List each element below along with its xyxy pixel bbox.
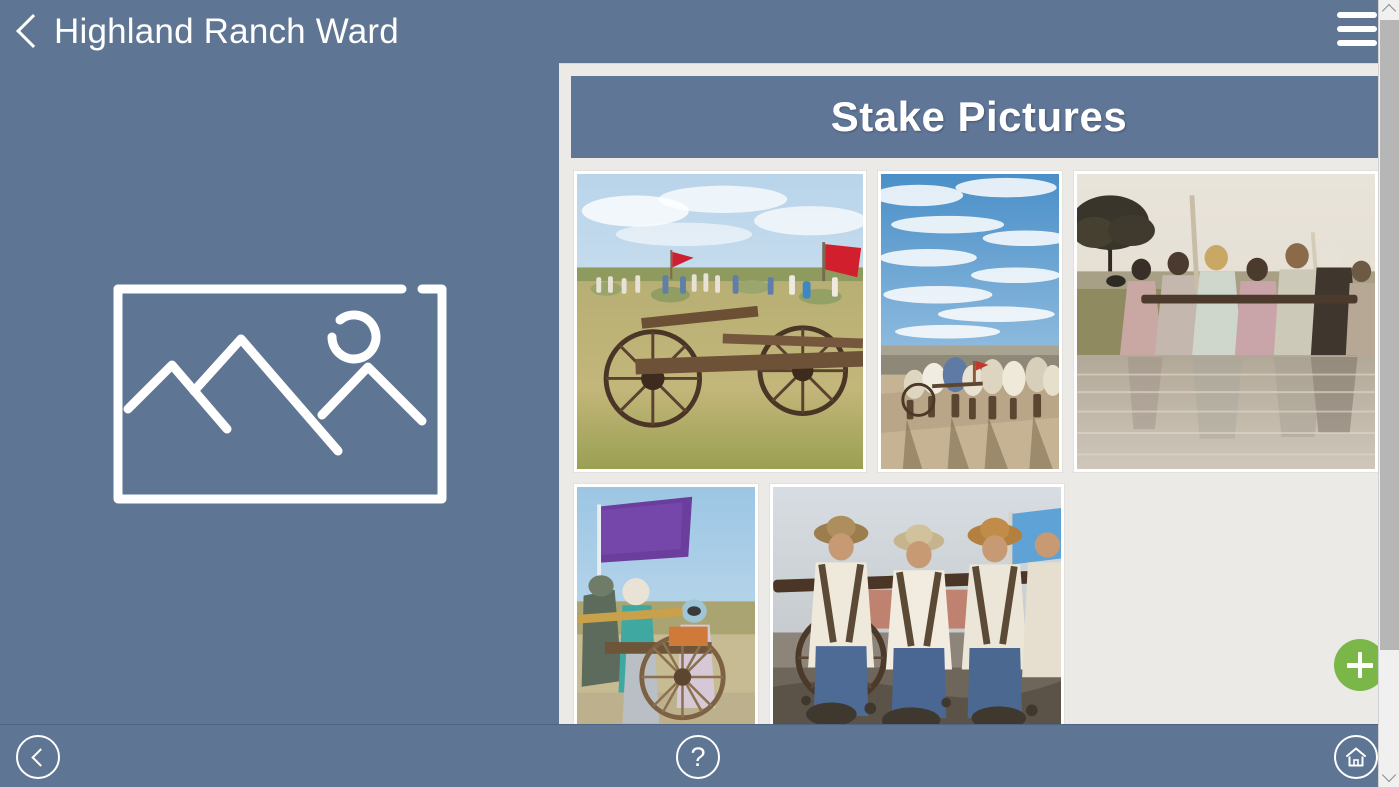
chevron-up-icon[interactable] <box>1379 0 1399 19</box>
help-label: ? <box>690 744 705 771</box>
hamburger-bar <box>1337 40 1377 46</box>
chevron-left-icon[interactable] <box>8 9 48 55</box>
photo-1-image <box>577 174 863 469</box>
home-circle-icon[interactable] <box>1334 735 1378 779</box>
chevron-left-glyph <box>31 748 49 766</box>
photo-3-image <box>1077 174 1375 469</box>
scrollbar-thumb[interactable] <box>1380 20 1399 650</box>
vertical-scrollbar[interactable] <box>1378 0 1399 787</box>
home-glyph <box>1344 745 1368 769</box>
hamburger-menu-icon[interactable] <box>1337 12 1377 46</box>
page-title: Highland Ranch Ward <box>54 0 399 63</box>
panel-header: Stake Pictures <box>571 76 1387 158</box>
chevron-left-circle-icon[interactable] <box>16 735 60 779</box>
app-root: Highland Ranch Ward Stake Pictures <box>0 0 1399 787</box>
top-app-bar: Highland Ranch Ward <box>0 0 1399 63</box>
gallery-photo-2[interactable] <box>877 170 1063 473</box>
stake-pictures-panel: Stake Pictures <box>559 63 1399 724</box>
hamburger-bar <box>1337 12 1377 18</box>
photo-4-image <box>577 487 755 724</box>
bottom-navigation-bar: ? <box>0 724 1399 787</box>
gallery-photo-5[interactable] <box>769 483 1065 724</box>
hamburger-bar <box>1337 26 1377 32</box>
question-mark-circle-icon[interactable]: ? <box>676 735 720 779</box>
chevron-down-icon[interactable] <box>1379 768 1399 787</box>
picture-gallery <box>559 158 1399 724</box>
gallery-photo-1[interactable] <box>573 170 867 473</box>
image-preview-pane <box>0 63 559 724</box>
photo-5-image <box>773 487 1061 724</box>
panel-title: Stake Pictures <box>831 93 1128 141</box>
gallery-photo-4[interactable] <box>573 483 759 724</box>
gallery-photo-3[interactable] <box>1073 170 1379 473</box>
image-placeholder-icon <box>110 281 450 507</box>
photo-2-image <box>881 174 1059 469</box>
